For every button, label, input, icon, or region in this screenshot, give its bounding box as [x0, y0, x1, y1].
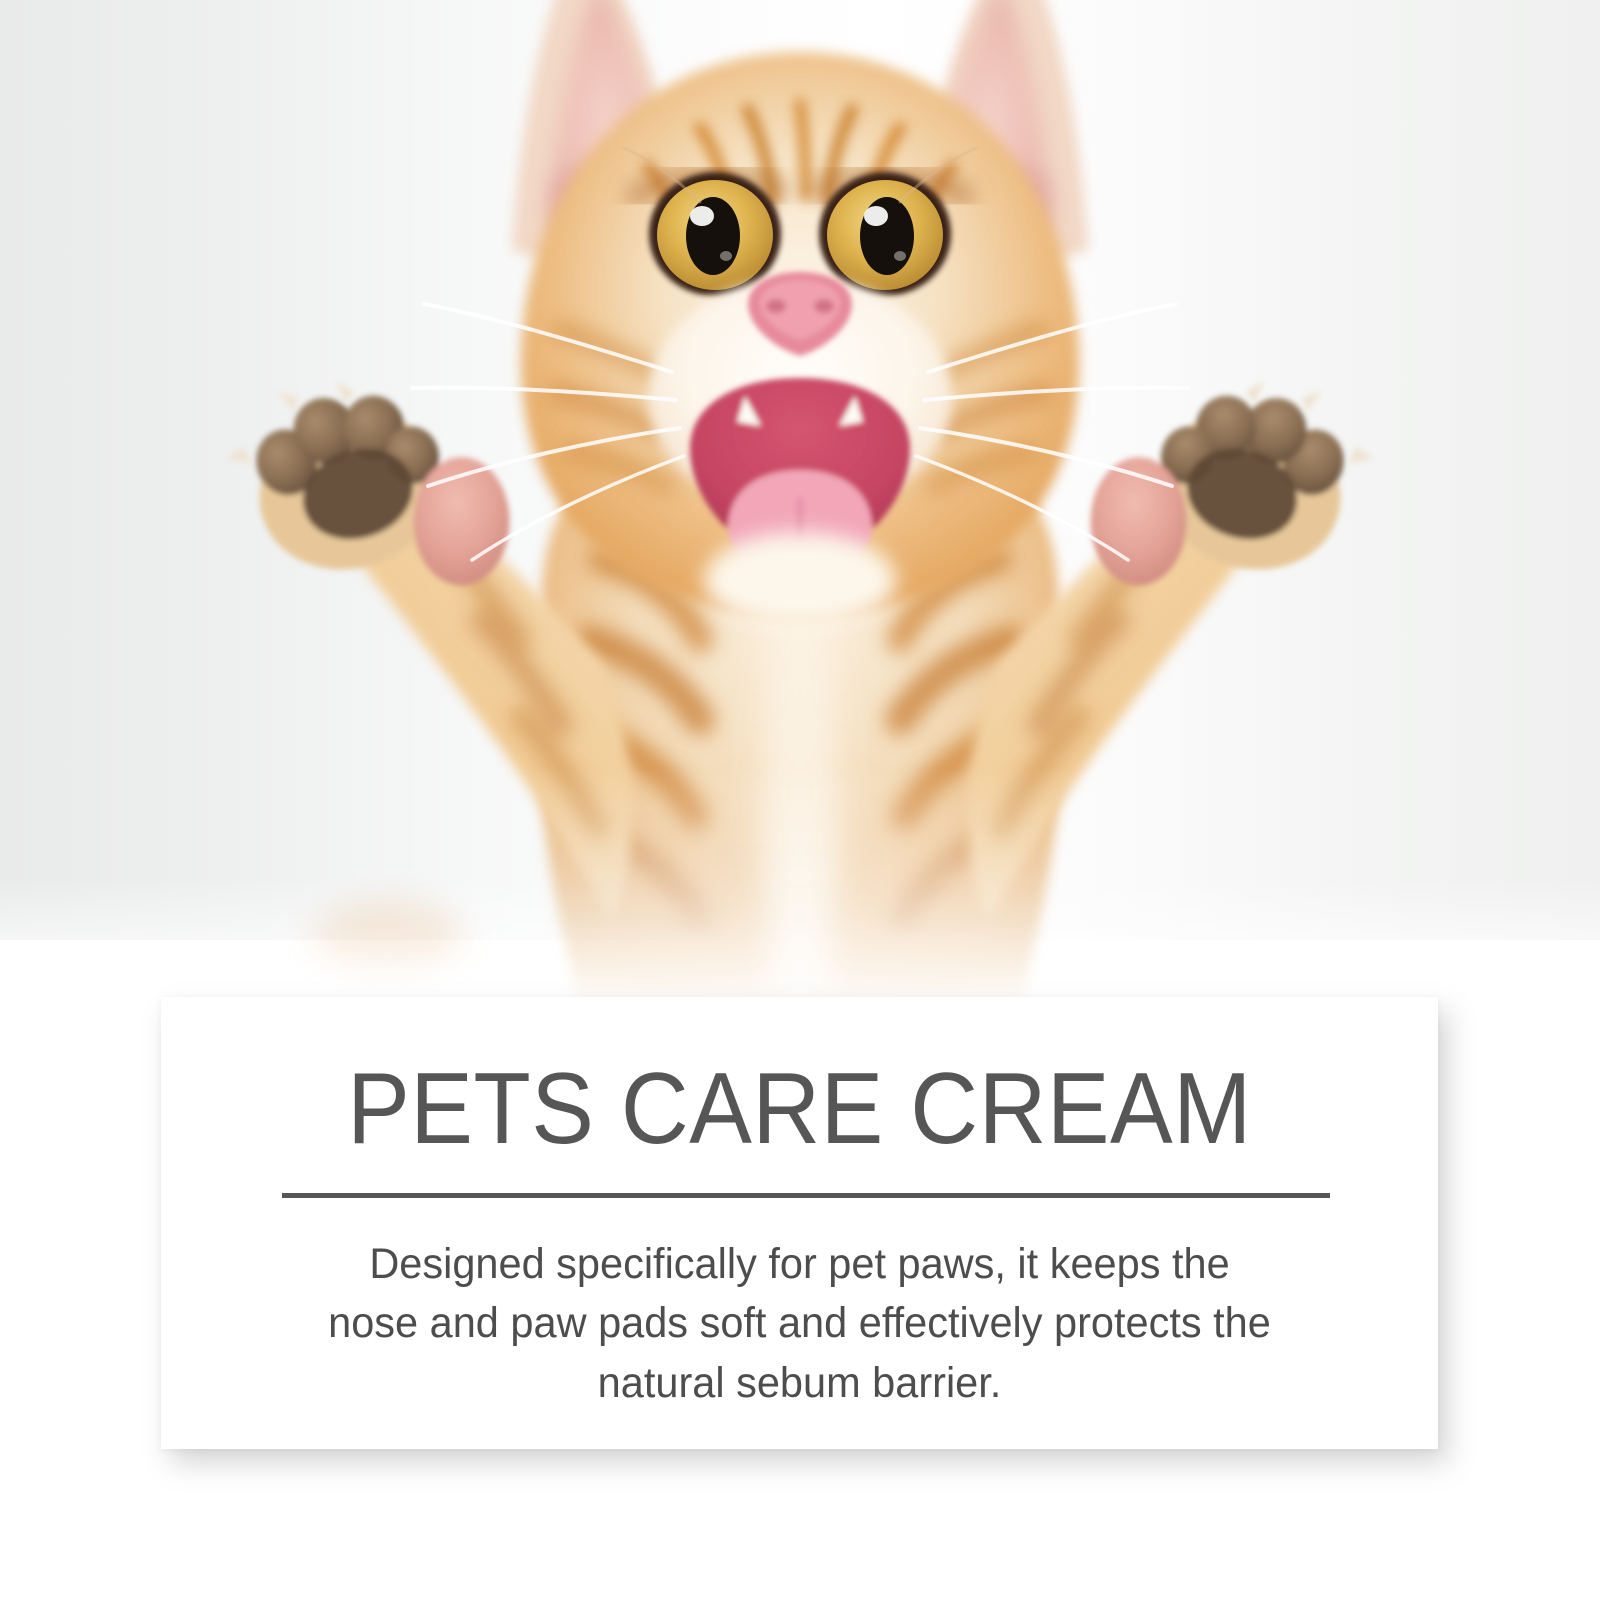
title-divider: [282, 1193, 1330, 1198]
page-title: PETS CARE CREAM: [206, 1059, 1394, 1160]
description-line-2: nose and paw pads soft and effectively p…: [251, 1294, 1348, 1353]
description-line-1: Designed specifically for pet paws, it k…: [251, 1235, 1348, 1294]
hero-cat-image: [0, 0, 1600, 1010]
product-description: Designed specifically for pet paws, it k…: [231, 1235, 1368, 1413]
description-line-3: natural sebum barrier.: [251, 1354, 1348, 1413]
product-banner: PETS CARE CREAM Designed specifically fo…: [0, 0, 1600, 1600]
product-caption-card: PETS CARE CREAM Designed specifically fo…: [161, 997, 1438, 1449]
